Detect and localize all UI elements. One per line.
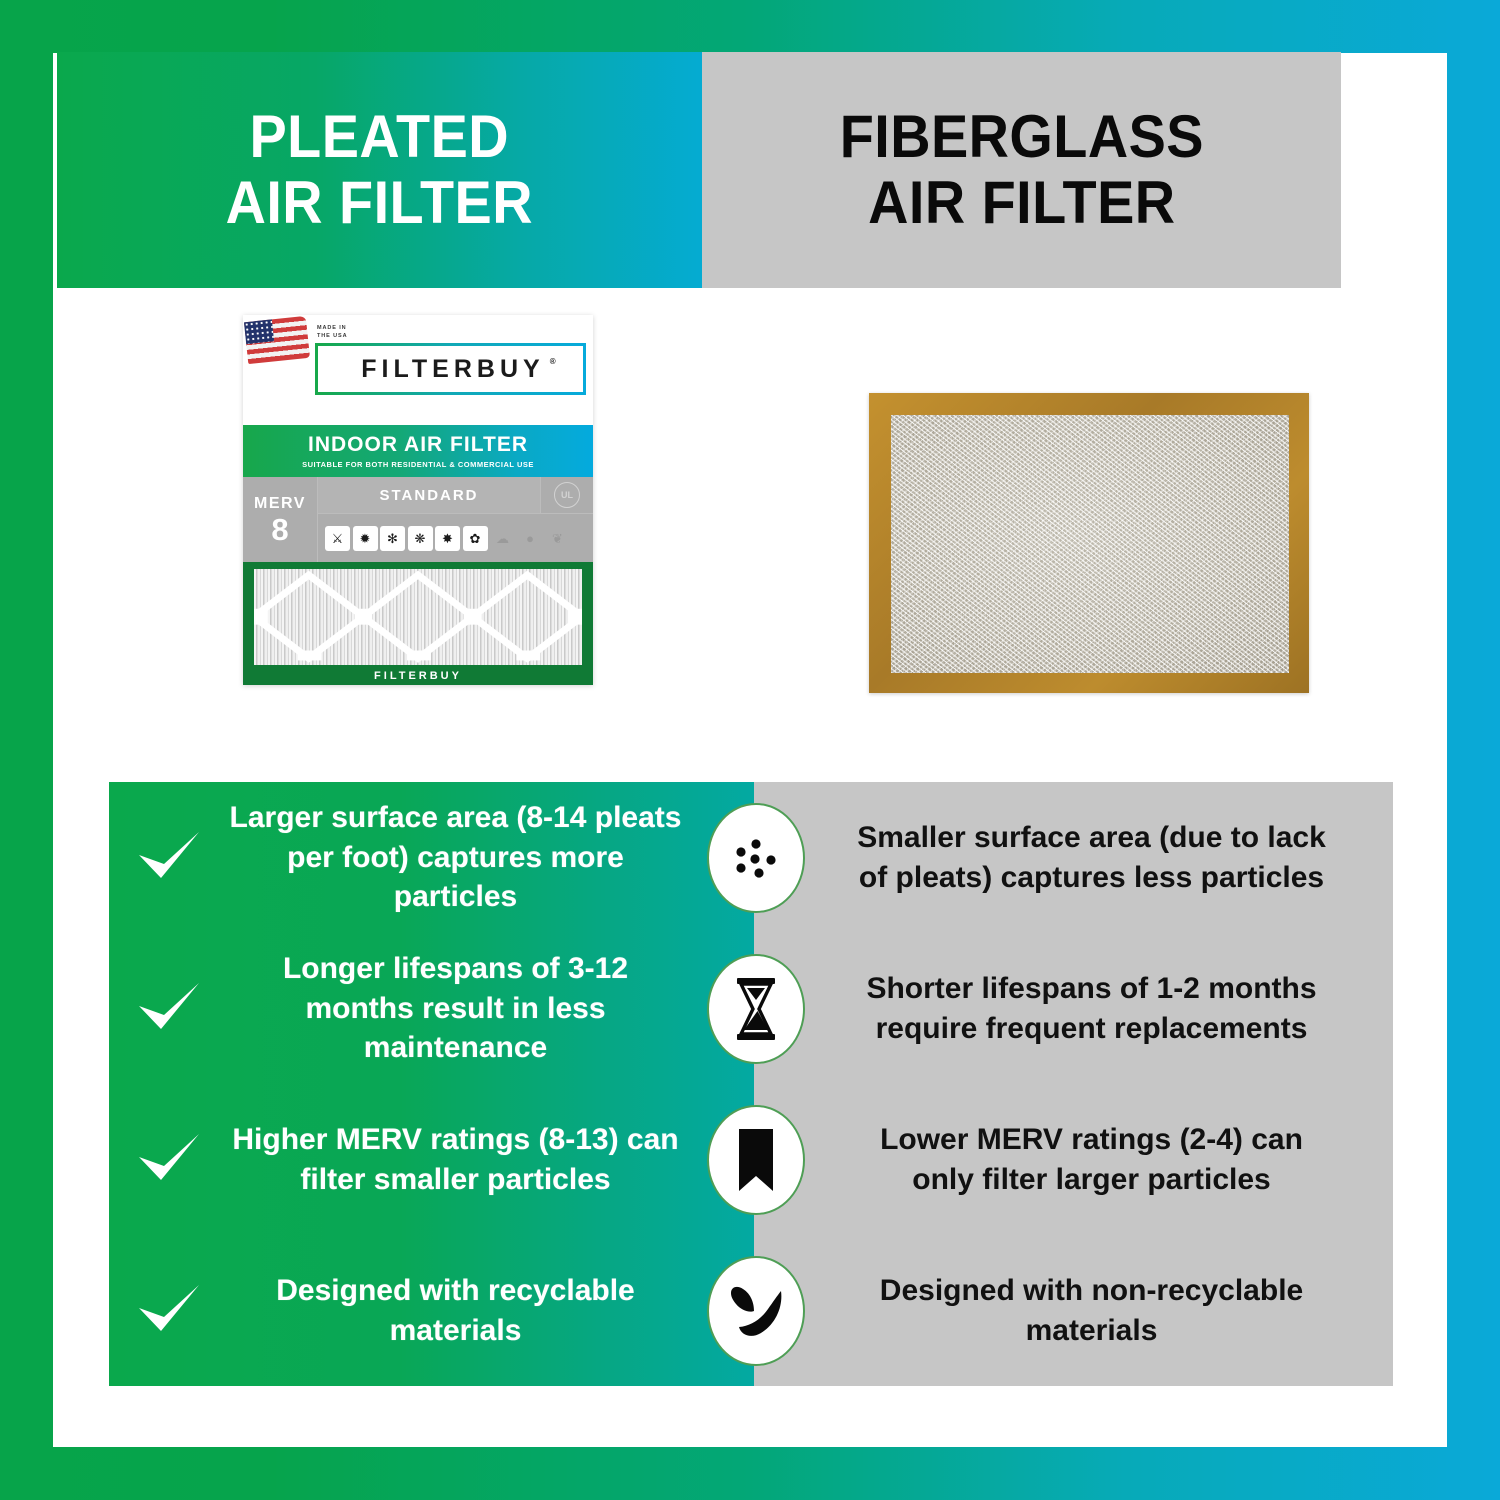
bacteria-icon: ✸ xyxy=(435,526,460,551)
merv-badge: MERV 8 xyxy=(243,477,318,562)
checkmark-icon xyxy=(109,980,229,1038)
header-pleated: PLEATED AIR FILTER xyxy=(57,52,702,288)
pleated-benefit-text: Designed with recyclable materials xyxy=(229,1271,754,1350)
comparison-row: Designed with recyclable materials Desig… xyxy=(109,1235,1393,1386)
grade-label: STANDARD xyxy=(318,477,540,513)
product-images-row: MADE IN THE USA FILTERBUY ® INDOOR AIR F… xyxy=(57,288,1341,728)
merv-label: MERV xyxy=(254,495,306,513)
fiberglass-media-texture xyxy=(891,415,1289,673)
filterbuy-logo: FILTERBUY ® xyxy=(315,343,586,395)
fiberglass-drawback-text: Shorter lifespans of 1-2 months require … xyxy=(754,969,1393,1048)
header-pleated-title: PLEATED AIR FILTER xyxy=(226,104,533,236)
fiberglass-cell: Designed with non-recyclable materials xyxy=(754,1235,1393,1386)
box-spec-section: MERV 8 STANDARD UL ⚔ ✹ ✻ ❋ xyxy=(243,477,593,562)
registered-mark: ® xyxy=(550,357,556,366)
ribbon-icon xyxy=(707,1105,805,1215)
pleated-cell: Larger surface area (8-14 pleats per foo… xyxy=(109,782,754,933)
fiberglass-filter-image xyxy=(869,393,1309,693)
header-fiberglass-title: FIBERGLASS AIR FILTER xyxy=(839,104,1203,236)
odor-icon: ❦ xyxy=(545,526,570,551)
comparison-row: Longer lifespans of 3-12 months result i… xyxy=(109,933,1393,1084)
fiberglass-cell: Shorter lifespans of 1-2 months require … xyxy=(754,933,1393,1084)
ul-mark-icon: UL xyxy=(554,482,580,508)
gradient-border-frame: PLEATED AIR FILTER FIBERGLASS AIR FILTER… xyxy=(0,0,1500,1500)
header-fiberglass-line1: FIBERGLASS xyxy=(839,104,1203,170)
fiberglass-drawback-text: Lower MERV ratings (2-4) can only filter… xyxy=(754,1120,1393,1199)
checkmark-icon xyxy=(109,1282,229,1340)
pleated-media-photo: FILTERBUY xyxy=(243,562,593,685)
pollen-icon: ✻ xyxy=(380,526,405,551)
pleated-benefit-text: Longer lifespans of 3-12 months result i… xyxy=(229,949,754,1068)
box-banner-subtitle: SUITABLE FOR BOTH RESIDENTIAL & COMMERCI… xyxy=(302,460,534,469)
pleated-filter-box-image: MADE IN THE USA FILTERBUY ® INDOOR AIR F… xyxy=(243,315,593,685)
checkmark-icon xyxy=(109,829,229,887)
pet-dander-icon: ✿ xyxy=(463,526,488,551)
checkmark-icon xyxy=(109,1131,229,1189)
box-feature-icon-row: ⚔ ✹ ✻ ❋ ✸ ✿ ☁ ● ❦ xyxy=(318,514,593,562)
fiberglass-cell: Smaller surface area (due to lack of ple… xyxy=(754,782,1393,933)
pleated-benefit-text: Higher MERV ratings (8-13) can filter sm… xyxy=(229,1120,754,1199)
ul-certification: UL xyxy=(540,477,593,513)
hourglass-icon xyxy=(707,954,805,1064)
made-in-usa-label: MADE IN THE USA xyxy=(317,324,347,341)
box-banner: INDOOR AIR FILTER SUITABLE FOR BOTH RESI… xyxy=(243,425,593,477)
leaf-icon xyxy=(707,1256,805,1366)
merv-value: 8 xyxy=(271,514,288,545)
comparison-row: Larger surface area (8-14 pleats per foo… xyxy=(109,782,1393,933)
pleated-benefit-text: Larger surface area (8-14 pleats per foo… xyxy=(229,798,754,917)
box-footer-brand: FILTERBUY xyxy=(243,670,593,682)
fiberglass-drawback-text: Smaller surface area (due to lack of ple… xyxy=(754,818,1393,897)
filterbuy-wordmark: FILTERBUY xyxy=(361,355,544,383)
header-pleated-line2: AIR FILTER xyxy=(226,170,533,236)
header-band: PLEATED AIR FILTER FIBERGLASS AIR FILTER xyxy=(57,52,1341,288)
header-pleated-line1: PLEATED xyxy=(226,104,533,170)
comparison-row: Higher MERV ratings (8-13) can filter sm… xyxy=(109,1084,1393,1235)
box-top-section: MADE IN THE USA FILTERBUY ® xyxy=(243,315,593,425)
header-fiberglass: FIBERGLASS AIR FILTER xyxy=(702,52,1341,288)
usa-flag-icon xyxy=(244,316,310,364)
fiberglass-drawback-text: Designed with non-recyclable materials xyxy=(754,1271,1393,1350)
particles-icon xyxy=(707,803,805,913)
mold-icon: ❋ xyxy=(408,526,433,551)
support-wire-pattern xyxy=(254,569,582,664)
pleated-cell: Higher MERV ratings (8-13) can filter sm… xyxy=(109,1084,754,1235)
comparison-table: Larger surface area (8-14 pleats per foo… xyxy=(109,782,1393,1386)
header-fiberglass-line2: AIR FILTER xyxy=(839,170,1203,236)
smoke-icon: ☁ xyxy=(490,526,515,551)
fiberglass-cell: Lower MERV ratings (2-4) can only filter… xyxy=(754,1084,1393,1235)
pleated-cell: Longer lifespans of 3-12 months result i… xyxy=(109,933,754,1084)
dust-mites-icon: ✹ xyxy=(353,526,378,551)
dust-lint-icon: ⚔ xyxy=(325,526,350,551)
box-banner-title: INDOOR AIR FILTER xyxy=(308,433,528,457)
virus-icon: ● xyxy=(518,526,543,551)
pleated-cell: Designed with recyclable materials xyxy=(109,1235,754,1386)
